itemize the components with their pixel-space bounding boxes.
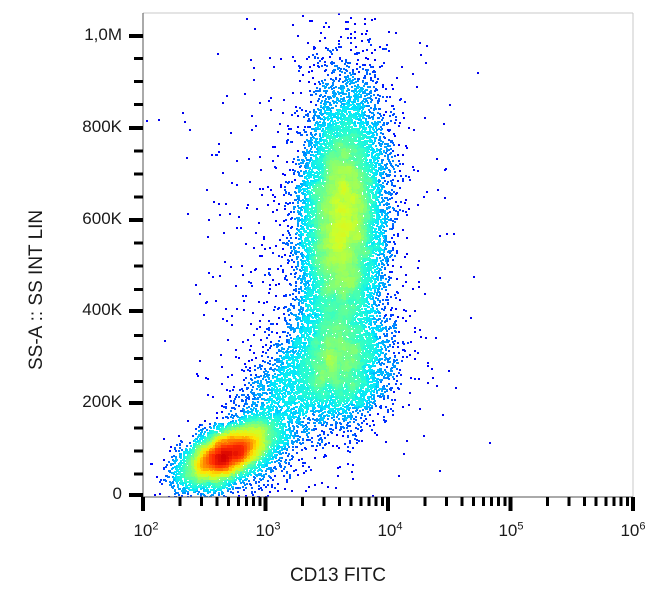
y-axis-title: SS-A :: SS INT LIN <box>26 210 48 370</box>
y-tick-label: 0 <box>0 484 122 504</box>
scatter-plot-canvas[interactable] <box>143 13 633 497</box>
y-tick-label: 200K <box>0 392 122 412</box>
y-tick-label: 800K <box>0 117 122 137</box>
x-axis-title: CD13 FITC <box>290 565 386 587</box>
y-tick-label: 400K <box>0 300 122 320</box>
x-tick-label: 102 <box>124 521 168 541</box>
y-tick-label: 600K <box>0 209 122 229</box>
x-tick-label: 104 <box>368 521 412 541</box>
flow-cytometry-plot: SS-A :: SS INT LIN CD13 FITC 0200K400K60… <box>0 0 650 608</box>
y-tick-label: 1,0M <box>0 25 122 45</box>
x-tick-label: 105 <box>489 521 533 541</box>
x-tick-label: 103 <box>246 521 290 541</box>
x-tick-label: 106 <box>611 521 650 541</box>
